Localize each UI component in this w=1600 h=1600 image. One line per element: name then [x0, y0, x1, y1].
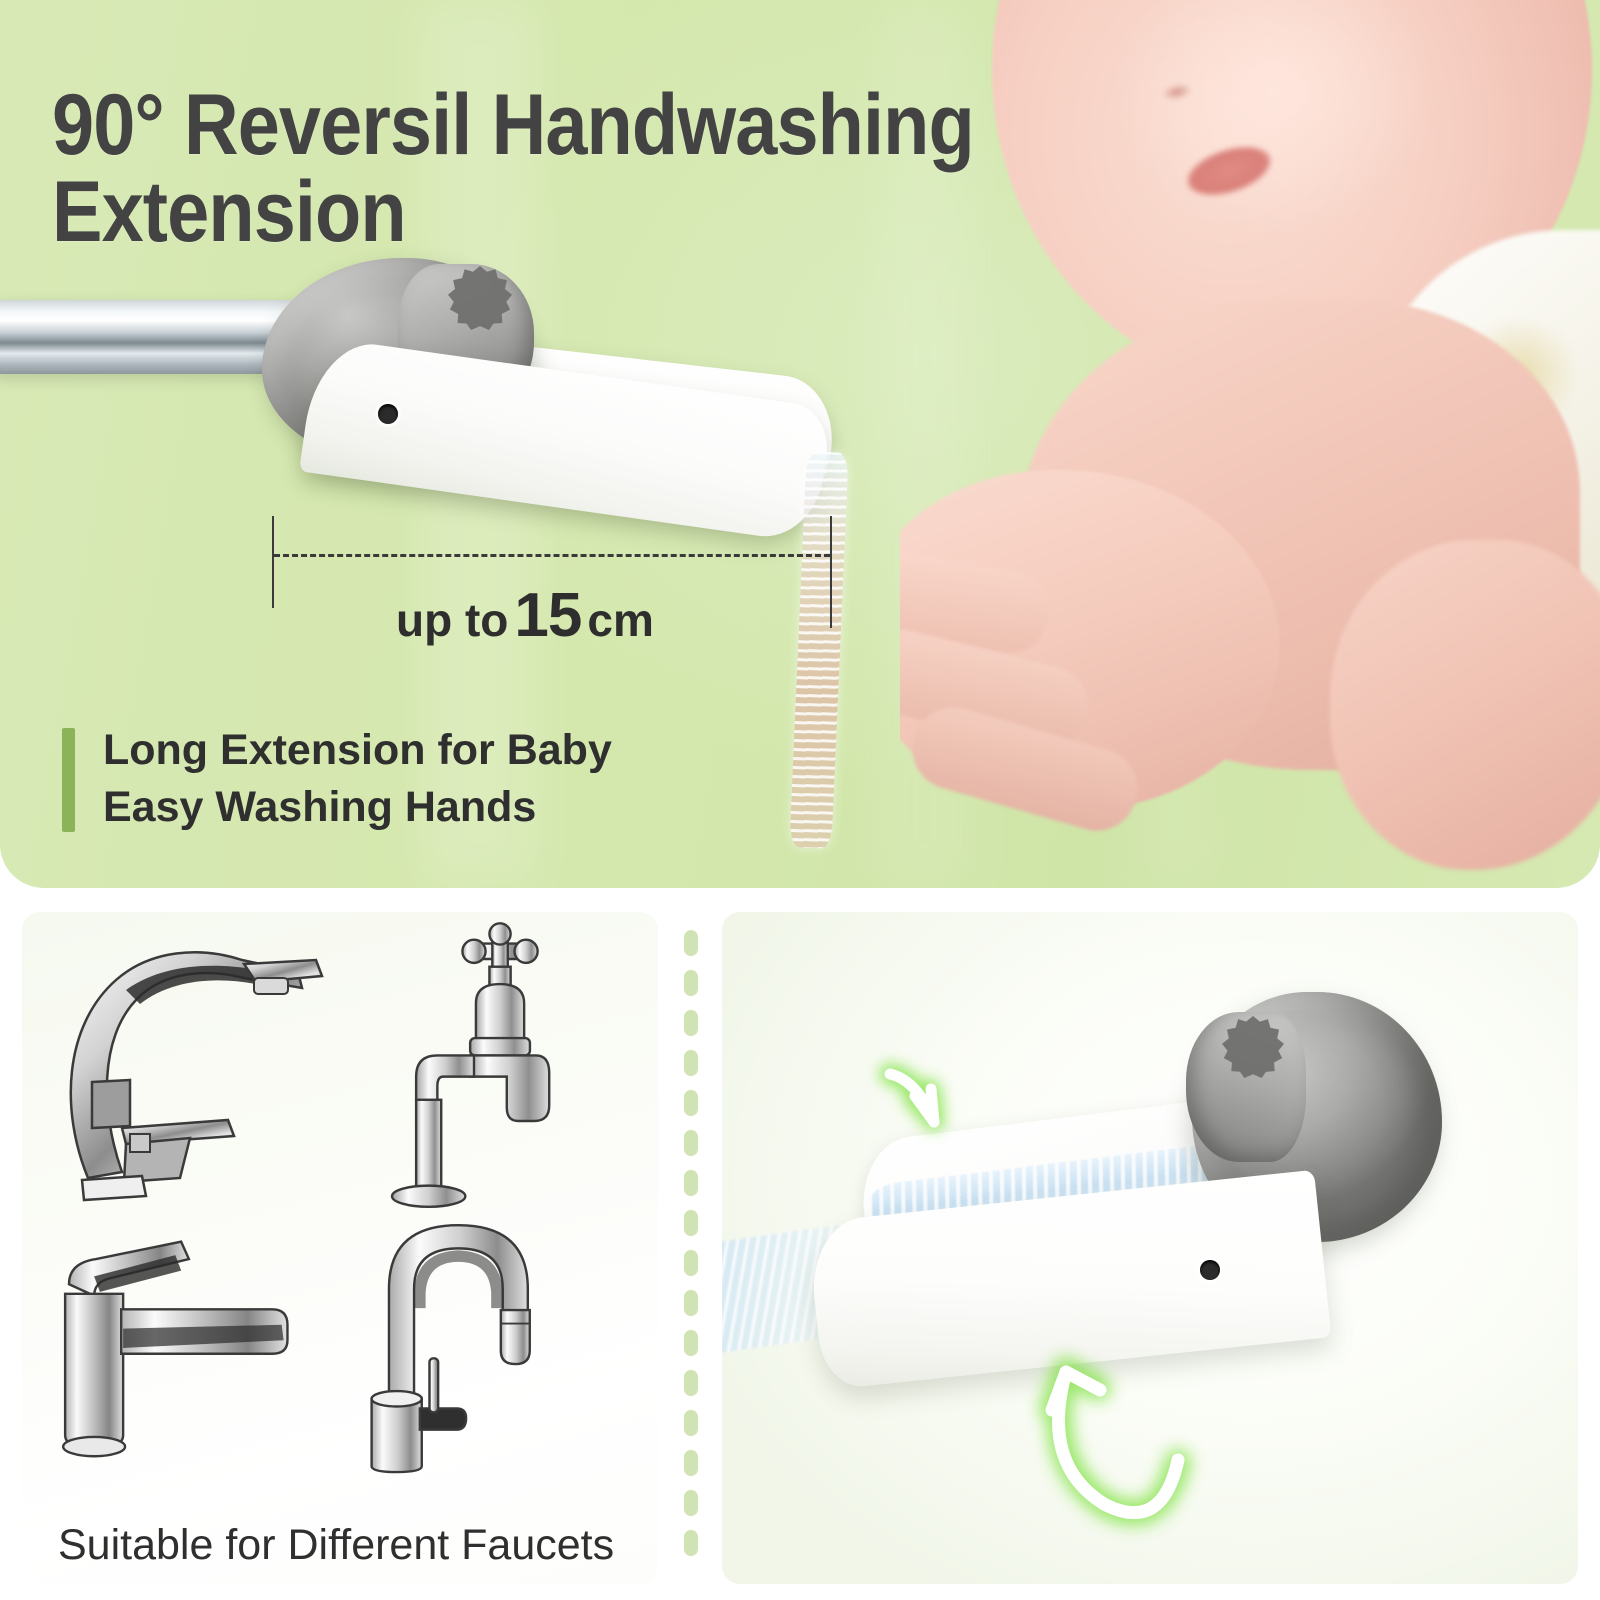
feature-callout: Long Extension for Baby Easy Washing Han… — [62, 722, 612, 836]
faucet-compatibility-panel: Suitable for Different Faucets — [22, 912, 658, 1584]
divider-dash — [684, 1210, 698, 1236]
divider-dash — [684, 1090, 698, 1116]
divider-dash — [684, 1010, 698, 1036]
divider-dash — [684, 1410, 698, 1436]
faucet-cell — [340, 918, 658, 1198]
reversible-demo-panel — [722, 912, 1578, 1584]
faucet-cell — [22, 918, 340, 1198]
faucet-cell — [22, 1198, 340, 1478]
measure-unit: cm — [587, 594, 653, 646]
divider-dash — [684, 1170, 698, 1196]
measure-end-cap-right — [830, 516, 832, 628]
divider-dash — [684, 1130, 698, 1156]
vintage-cross-handle-tap-icon — [366, 922, 636, 1212]
measure-prefix: up to — [396, 594, 508, 646]
extender-vent-hole — [378, 404, 398, 424]
hero-panel: 90° Reversil Handwashing Extension up to… — [0, 0, 1600, 888]
divider-dash — [684, 1250, 698, 1276]
feature-text: Long Extension for Baby Easy Washing Han… — [103, 722, 612, 836]
measure-value: 15 — [514, 581, 581, 650]
faucet-cell — [340, 1198, 658, 1478]
divider-dash — [684, 1370, 698, 1396]
baby-second-hand — [1330, 540, 1600, 870]
panel-divider — [684, 930, 698, 1580]
feature-accent-bar — [62, 728, 75, 832]
rotate-arrow-bottom-icon — [982, 1282, 1322, 1562]
baby-photo — [900, 0, 1600, 888]
single-lever-basin-mixer-icon — [40, 1216, 330, 1478]
measure-end-cap-left — [272, 516, 274, 608]
faucet-pipe — [0, 300, 294, 374]
divider-dash — [684, 970, 698, 996]
measurement-label: up to15cm — [396, 580, 654, 651]
measure-dashed-line — [274, 554, 830, 557]
divider-dash — [684, 1490, 698, 1516]
faucets-caption: Suitable for Different Faucets — [58, 1521, 614, 1570]
divider-dash — [684, 1450, 698, 1476]
curved-waterfall-faucet-icon — [30, 930, 330, 1210]
reversed-vent-hole — [1200, 1260, 1220, 1280]
gooseneck-kitchen-faucet-icon — [356, 1204, 636, 1474]
divider-dash — [684, 1290, 698, 1316]
faucet-icon-grid — [22, 918, 658, 1478]
divider-dash — [684, 1050, 698, 1076]
divider-dash — [684, 1330, 698, 1356]
divider-dash — [684, 1530, 698, 1556]
divider-dash — [684, 930, 698, 956]
rotate-arrow-top-icon — [722, 1012, 1022, 1212]
page-title: 90° Reversil Handwashing Extension — [52, 82, 974, 257]
